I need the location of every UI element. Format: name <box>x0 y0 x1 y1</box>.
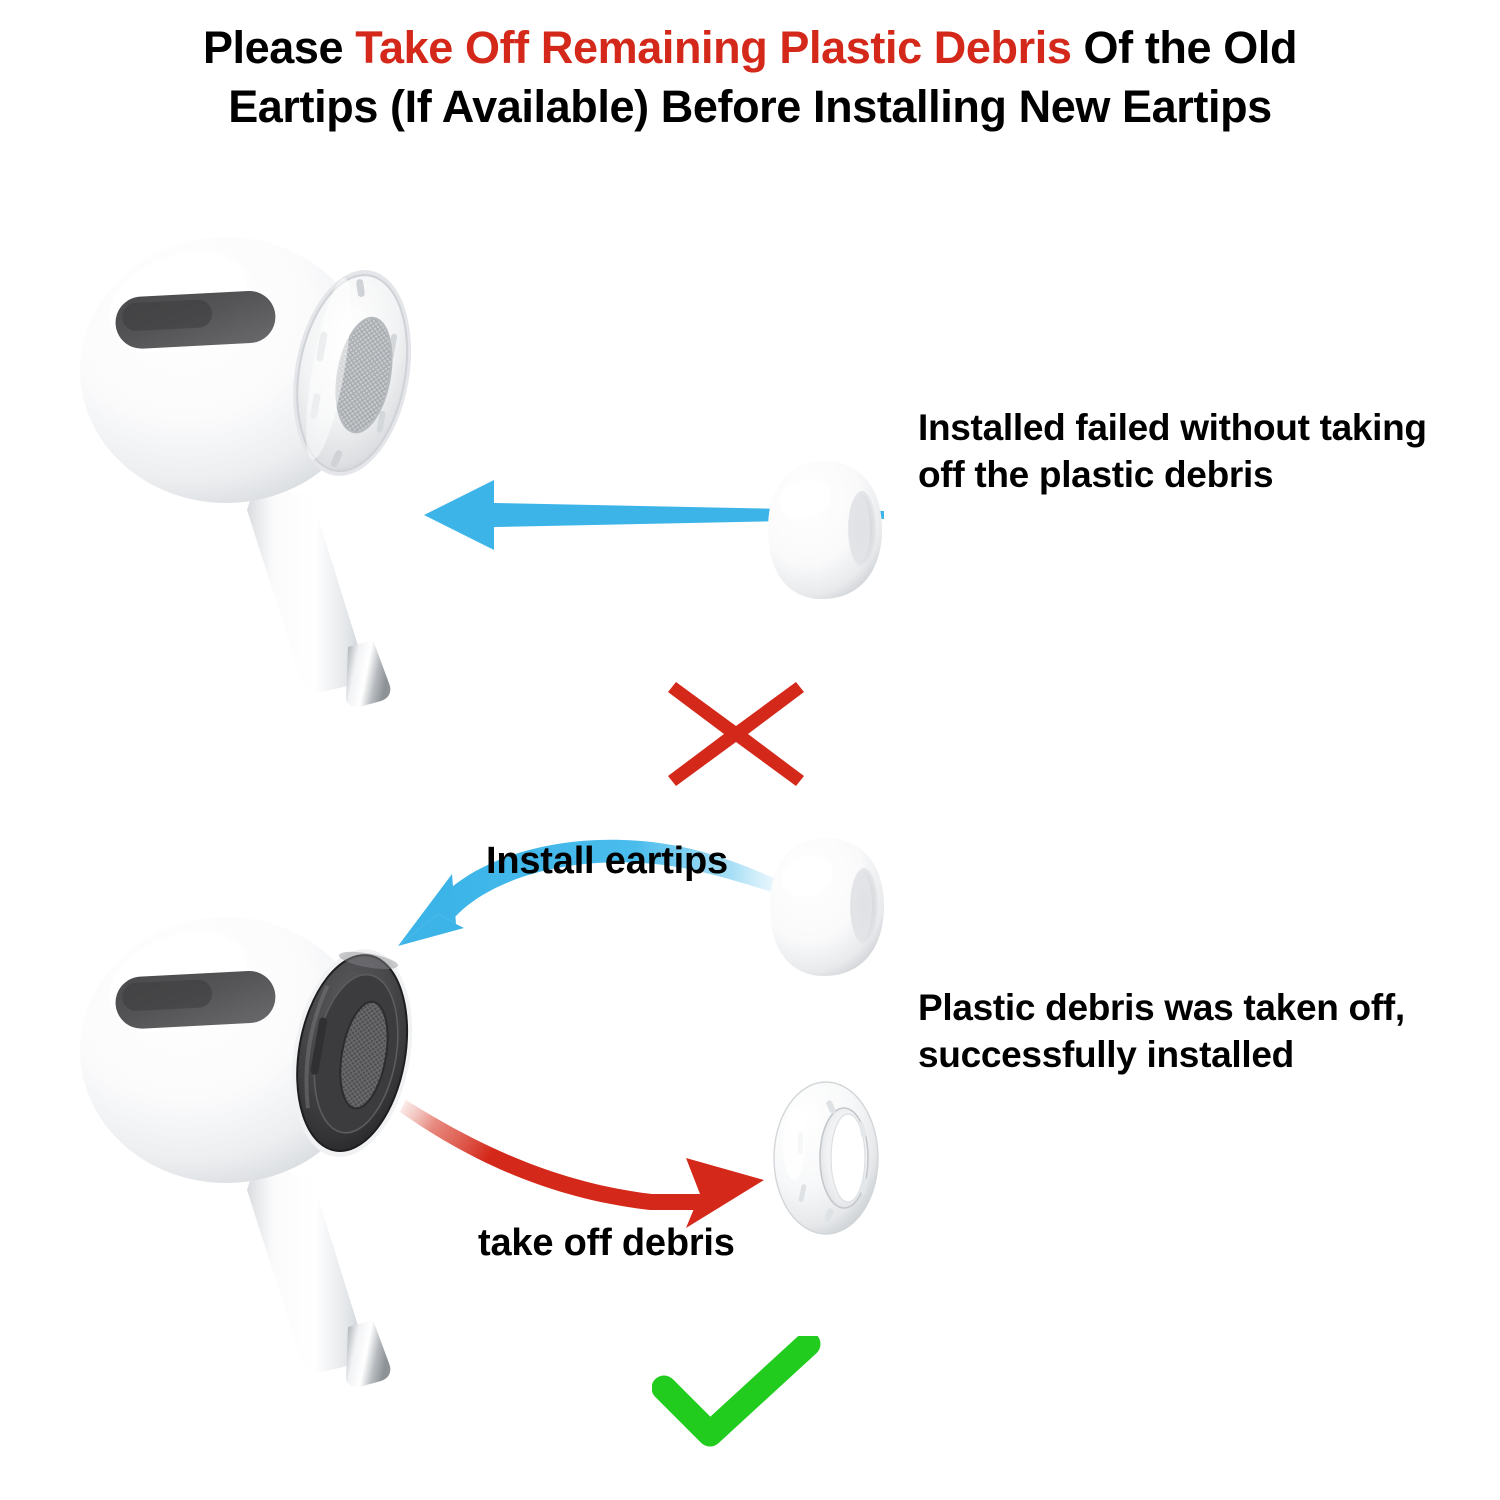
success-caption: Plastic debris was taken off, successful… <box>918 985 1478 1078</box>
replacement-eartip <box>762 832 890 982</box>
title-text-pre: Please <box>203 22 355 73</box>
page-title: Please Take Off Remaining Plastic Debris… <box>0 18 1500 137</box>
successful-installation-panel: Install eartips <box>0 790 1500 1490</box>
airpod-with-plastic-debris <box>60 210 490 710</box>
replacement-eartip <box>760 455 888 605</box>
failed-caption-line-2: off the plastic debris <box>918 452 1478 499</box>
title-text-highlight: Take Off Remaining Plastic Debris <box>355 22 1071 73</box>
success-caption-line-2: successfully installed <box>918 1032 1478 1079</box>
failed-caption-line-1: Installed failed without taking <box>918 405 1478 452</box>
page-title-line-1: Please Take Off Remaining Plastic Debris… <box>0 18 1500 77</box>
title-text-post: Of the Old <box>1071 22 1297 73</box>
red-cross-mark-icon <box>668 682 804 786</box>
failed-installation-panel: Installed failed without taking off the … <box>0 170 1500 790</box>
success-caption-line-1: Plastic debris was taken off, <box>918 985 1478 1032</box>
page-title-line-2: Eartips (If Available) Before Installing… <box>0 77 1500 136</box>
take-off-debris-label: take off debris <box>478 1222 735 1265</box>
removed-plastic-debris-ring <box>768 1078 893 1238</box>
red-curved-arrow-remove-icon <box>400 1098 800 1228</box>
green-check-mark-icon <box>652 1336 822 1448</box>
install-eartips-label: Install eartips <box>486 840 728 883</box>
failed-caption: Installed failed without taking off the … <box>918 405 1478 498</box>
